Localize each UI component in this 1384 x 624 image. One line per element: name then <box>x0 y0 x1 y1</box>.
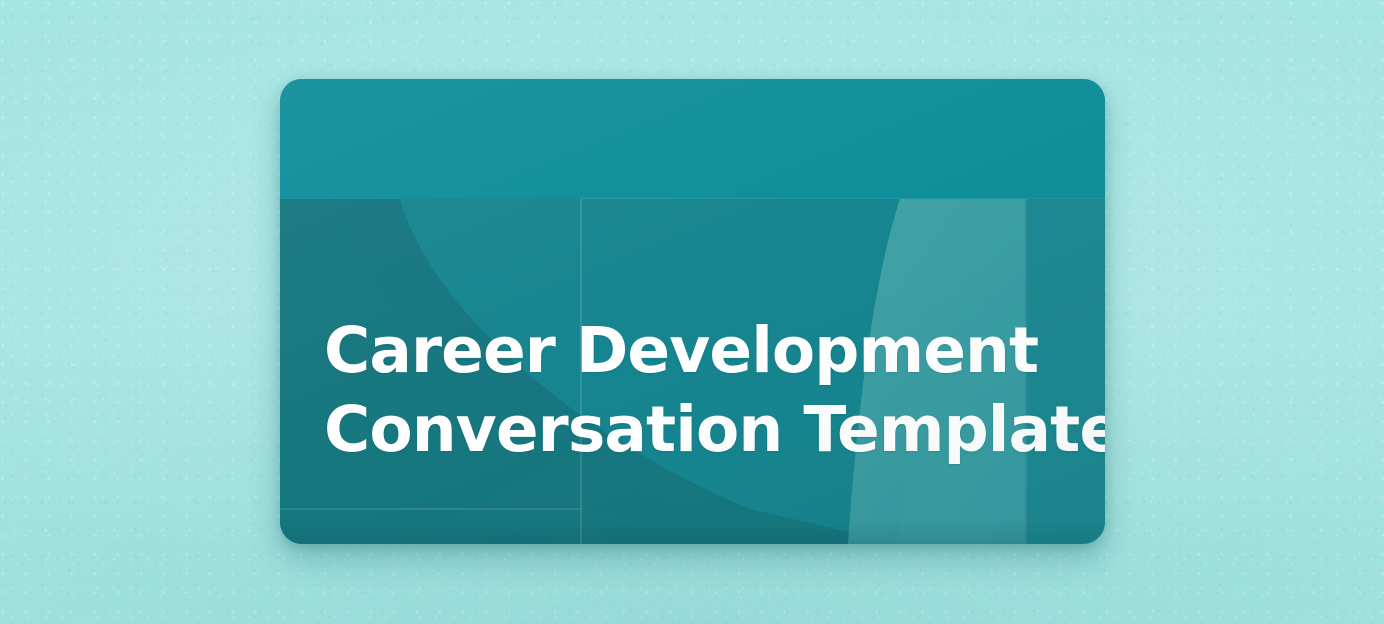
page-title: Career Development Conversation Template <box>324 311 1084 469</box>
page-title-line-1: Career Development <box>324 311 1084 390</box>
horizontal-rule-lower-left <box>280 508 580 510</box>
card-bottom-shading <box>280 518 1105 544</box>
career-development-conversation-template-card[interactable]: Career Development Conversation Template <box>280 79 1105 544</box>
page-canvas: Career Development Conversation Template <box>0 0 1384 624</box>
page-title-line-2: Conversation Template <box>324 390 1084 469</box>
card-top-band <box>280 79 1105 199</box>
